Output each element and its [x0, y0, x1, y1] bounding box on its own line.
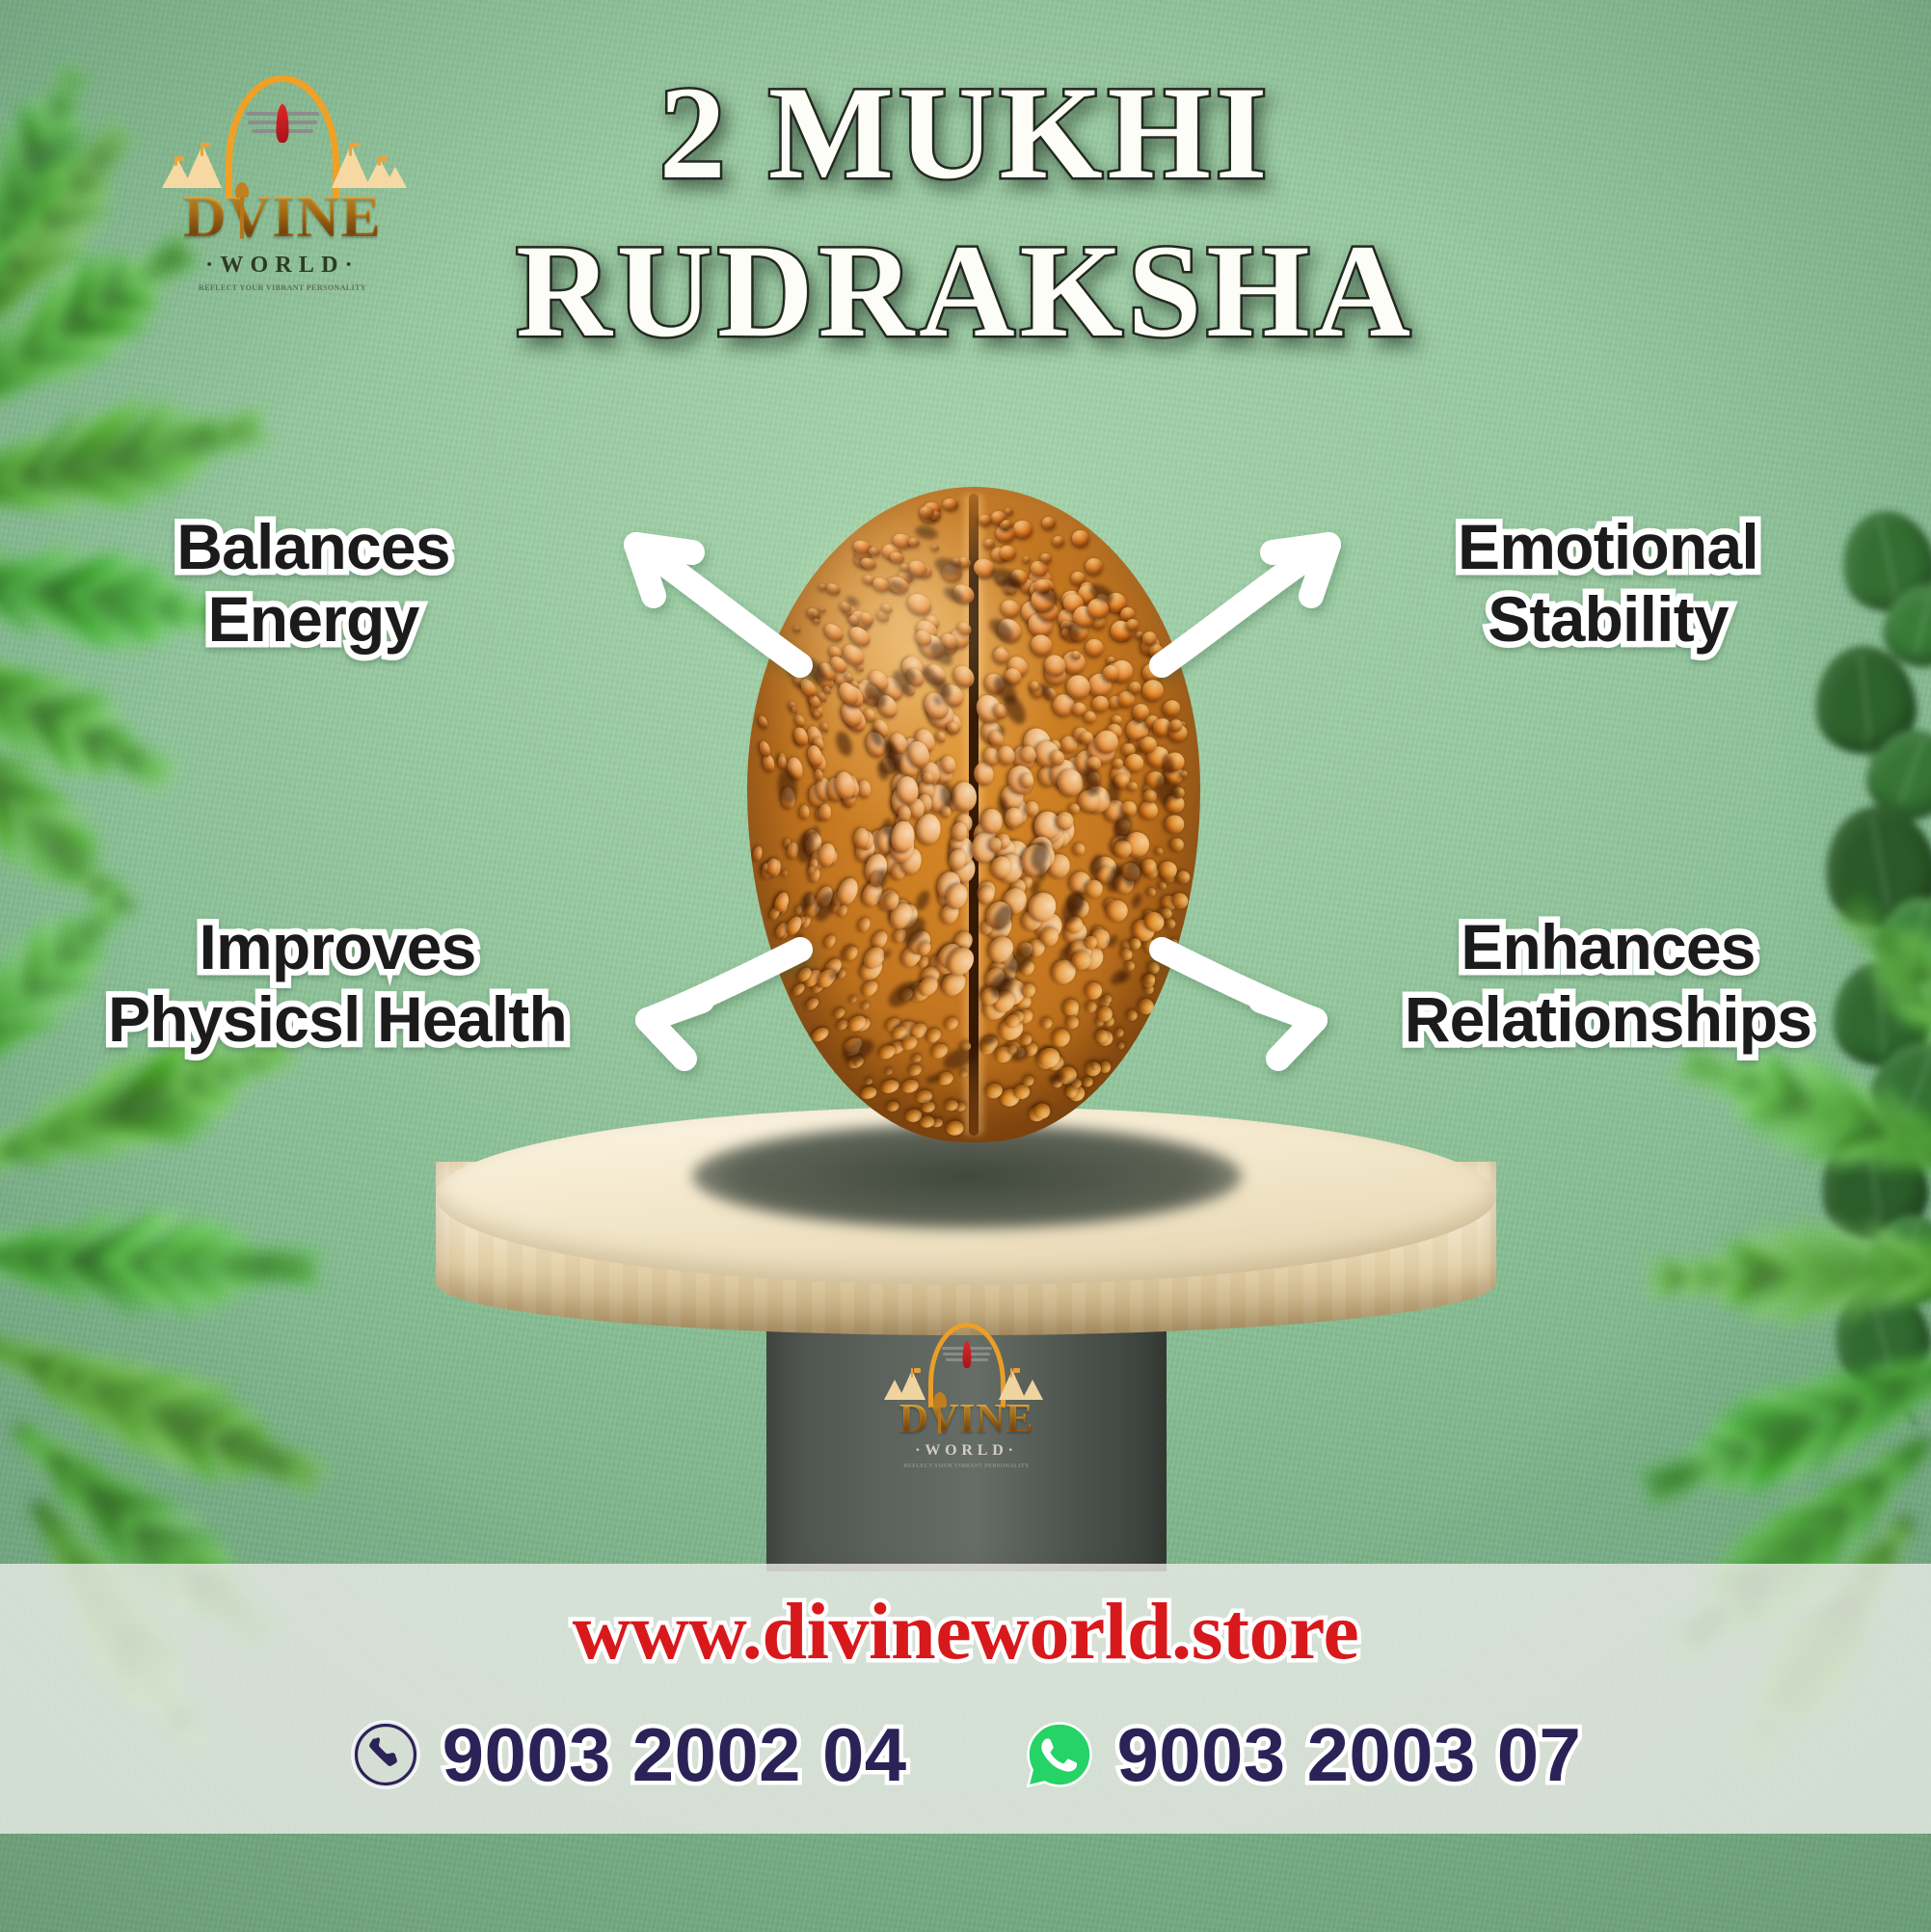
rudraksha-surface-nub — [791, 982, 807, 999]
benefit-enhances-relationships-line2: Relationships — [1338, 983, 1878, 1056]
rudraksha-surface-nub — [1164, 918, 1177, 931]
rudraksha-surface-nub — [1140, 801, 1159, 819]
rudraksha-surface-nub — [1154, 847, 1164, 856]
rudraksha-surface-nub — [1127, 781, 1138, 792]
rudraksha-surface-nub — [1116, 1040, 1126, 1050]
headline-line-2: RUDRAKSHA — [0, 214, 1931, 367]
rudraksha-surface-nub — [847, 994, 858, 1005]
rudraksha-crevice — [833, 729, 855, 758]
rudraksha-surface-nub — [922, 1101, 937, 1114]
rudraksha-surface-nub — [1001, 519, 1013, 529]
rudraksha-surface-nub — [978, 514, 992, 527]
rudraksha-surface-nub — [1041, 516, 1057, 530]
poster-canvas: DVINE ·WORLD· REFLECT YOUR VIBRANT PERSO… — [0, 0, 1931, 1932]
rudraksha-surface-nub — [1113, 1027, 1125, 1038]
rudraksha-surface-nub — [1168, 837, 1184, 851]
whatsapp-number: 9003 2003 07 — [1117, 1711, 1582, 1799]
rudraksha-surface-nub — [1069, 804, 1080, 816]
rudraksha-bead[interactable] — [747, 487, 1200, 1142]
rudraksha-surface-nub — [1051, 535, 1064, 549]
rudraksha-bead-body — [747, 487, 1200, 1142]
rudraksha-surface-nub — [880, 1078, 900, 1095]
contact-whatsapp[interactable]: 9003 2003 07 — [1023, 1711, 1582, 1799]
rudraksha-crevice — [882, 818, 893, 835]
rudraksha-surface-nub — [996, 743, 1017, 766]
rudraksha-crevice — [913, 888, 932, 912]
headline-line-2-text: RUDRAKSHA — [516, 214, 1415, 367]
rudraksha-surface-nub — [898, 806, 911, 822]
rudraksha-surface-nub — [1073, 843, 1086, 857]
tripundra-icon-pedestal — [942, 1344, 992, 1367]
rudraksha-surface-nub — [945, 1120, 963, 1136]
benefit-emotional-stability: Emotional Stability — [1367, 511, 1849, 655]
benefit-enhances-relationships-line1: Enhances — [1338, 911, 1878, 983]
rudraksha-surface-nub — [804, 997, 821, 1013]
rudraksha-surface-nub — [1160, 697, 1183, 719]
rudraksha-surface-nub — [1006, 807, 1023, 827]
phone-icon — [350, 1719, 421, 1790]
benefit-balances-energy: Balances Energy — [96, 511, 530, 655]
rudraksha-surface-nub — [941, 806, 951, 818]
trishul-icon-pedestal — [938, 1403, 941, 1434]
rudraksha-surface-nub — [1124, 1008, 1139, 1023]
benefit-balances-energy-line2: Energy — [96, 583, 530, 656]
benefit-balances-energy-line1: Balances — [96, 511, 530, 583]
benefit-improves-physical-health-line1: Improves — [67, 911, 607, 983]
rudraksha-surface-nub — [855, 916, 872, 935]
benefit-emotional-stability-line2: Stability — [1367, 583, 1849, 656]
rudraksha-surface-nub — [907, 1063, 924, 1078]
rudraksha-surface-nub — [1175, 870, 1192, 885]
rudraksha-surface-nub — [800, 805, 810, 819]
rudraksha-surface-nub — [1136, 996, 1157, 1017]
rudraksha-surface-nub — [1179, 769, 1188, 778]
benefit-improves-physical-health: Improves Physicsl Health — [67, 911, 607, 1055]
logo-subtitle-pedestal: ·WORLD· — [915, 1442, 1018, 1460]
logo-wordmark-pedestal: DVINE — [899, 1396, 1034, 1442]
logo-subtitle-text-pedestal: WORLD — [925, 1442, 1007, 1459]
rudraksha-surface-nub — [1168, 938, 1179, 949]
phone-number: 9003 2002 04 — [443, 1711, 907, 1799]
rudraksha-surface-nub — [1138, 676, 1167, 705]
rudraksha-surface-nub — [1025, 801, 1039, 818]
benefit-improves-physical-health-line2: Physicsl Health — [67, 983, 607, 1056]
rudraksha-surface-nub — [758, 714, 770, 730]
shivling-icon-pedestal — [962, 1341, 971, 1368]
rudraksha-surface-nub — [1049, 1027, 1073, 1051]
rudraksha-surface-nub — [910, 1053, 923, 1064]
rudraksha-surface-nub — [822, 932, 839, 950]
benefit-enhances-relationships: Enhances Relationships — [1338, 911, 1878, 1055]
rudraksha-surface-nub — [825, 581, 843, 597]
brand-logo-pedestal: DVINE ·WORLD· REFLECT YOUR VIBRANT PERSO… — [872, 1319, 1060, 1481]
rudraksha-surface-nub — [899, 1078, 920, 1095]
contact-row: 9003 2002 04 9003 2003 07 — [0, 1706, 1931, 1803]
rudraksha-surface-nub — [793, 625, 802, 633]
logo-dot-left-pedestal: · — [915, 1442, 925, 1459]
rudraksha-surface-nub — [809, 1025, 831, 1044]
rudraksha-surface-nub — [752, 845, 764, 862]
rudraksha-crevice — [796, 953, 808, 966]
rudraksha-surface-nub — [1038, 1015, 1055, 1031]
rudraksha-surface-nub — [788, 666, 795, 675]
rudraksha-surface-nub — [819, 803, 831, 820]
rudraksha-surface-nub — [781, 869, 788, 877]
rudraksha-surface-nub — [1022, 555, 1032, 565]
rudraksha-crevice — [1130, 892, 1144, 909]
headline-line-1-text: 2 MUKHI — [659, 56, 1273, 209]
rudraksha-surface-nub — [821, 620, 846, 644]
website-url[interactable]: www.divineworld.store — [0, 1585, 1931, 1678]
rudraksha-surface-nub — [1165, 815, 1185, 834]
rudraksha-surface-nub — [1083, 635, 1108, 660]
rudraksha-surface-nub — [1157, 882, 1167, 892]
rudraksha-surface-nub — [845, 1012, 869, 1033]
rudraksha-surface-nub — [859, 1086, 877, 1100]
rudraksha-surface-nub — [885, 1101, 899, 1113]
rudraksha-surface-nub — [865, 1078, 873, 1086]
logo-tagline-pedestal: REFLECT YOUR VIBRANT PERSONALITY — [903, 1463, 1030, 1469]
rudraksha-surface-nub — [778, 642, 797, 661]
rudraksha-surface-nub — [958, 1069, 969, 1079]
rudraksha-surface-nub — [930, 544, 940, 551]
logo-letter-d-pedestal: D — [899, 1397, 929, 1441]
rudraksha-crevice — [882, 949, 893, 960]
rudraksha-surface-nub — [998, 597, 1023, 622]
rudraksha-surface-nub — [1059, 997, 1082, 1019]
rudraksha-surface-nub — [935, 731, 948, 744]
rudraksha-surface-nub — [1070, 528, 1090, 548]
rudraksha-surface-nub — [857, 780, 872, 800]
rudraksha-surface-nub — [884, 1068, 893, 1076]
rudraksha-crevice — [1121, 855, 1145, 889]
rudraksha-surface-nub — [1083, 556, 1104, 577]
headline-line-1: 2 MUKHI — [0, 56, 1931, 209]
rudraksha-surface-nub — [859, 978, 880, 999]
rudraksha-surface-nub — [1146, 887, 1158, 898]
rudraksha-surface-nub — [791, 706, 798, 714]
rudraksha-surface-nub — [859, 1001, 872, 1012]
benefit-emotional-stability-line1: Emotional — [1367, 511, 1849, 583]
rudraksha-surface-nub — [942, 498, 958, 512]
logo-dot-right-pedestal: · — [1008, 1442, 1018, 1459]
contact-phone[interactable]: 9003 2002 04 — [350, 1711, 907, 1799]
footer-bar: www.divineworld.store 9003 2002 04 9003 … — [0, 1564, 1931, 1834]
whatsapp-icon — [1023, 1718, 1096, 1791]
rudraksha-surface-nub — [859, 556, 877, 572]
rudraksha-surface-nub — [1082, 1075, 1094, 1087]
rudraksha-surface-nub — [832, 1006, 847, 1021]
rudraksha-surface-nub — [942, 1015, 960, 1033]
rudraksha-surface-nub — [1022, 1075, 1035, 1087]
